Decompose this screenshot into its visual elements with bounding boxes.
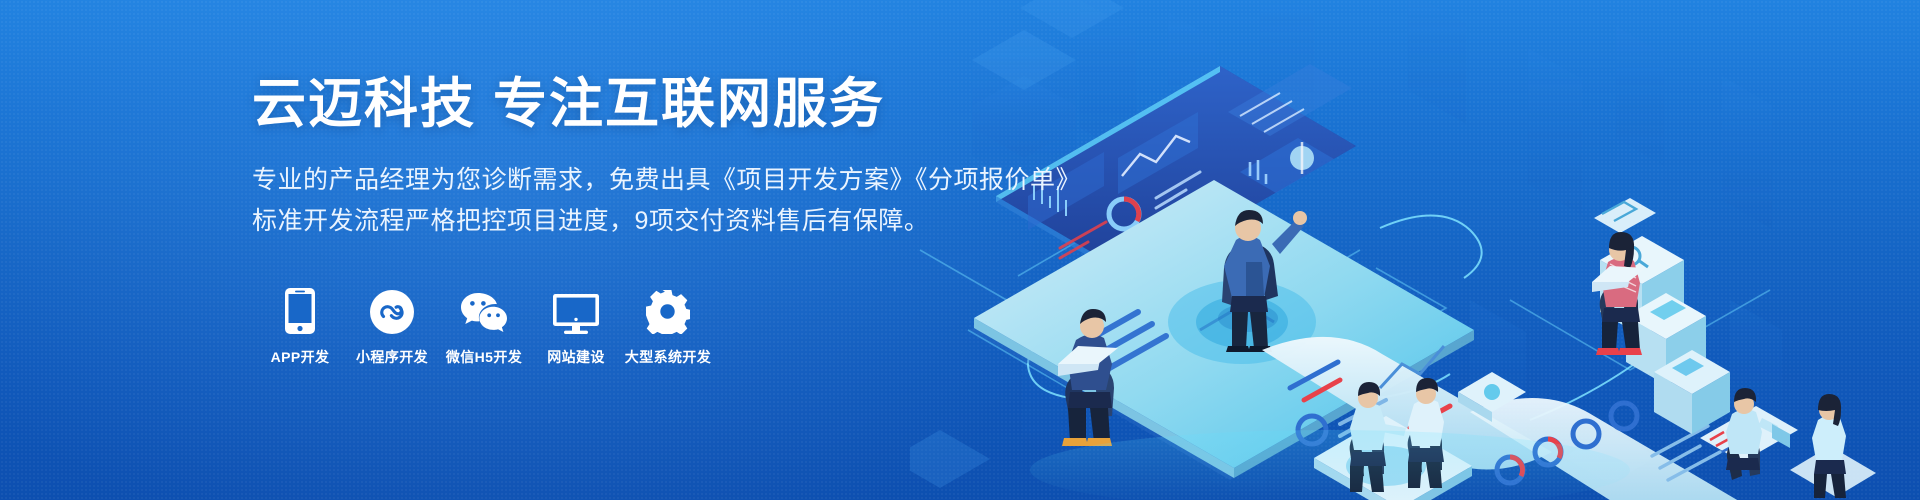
hero-banner: 云迈科技 专注互联网服务 专业的产品经理为您诊断需求，免费出具《项目开发方案》《… xyxy=(0,0,1920,500)
service-item-mini-program[interactable]: 小程序开发 xyxy=(346,288,438,367)
subtitle-line-2: 标准开发流程严格把控项目进度，9项交付资料售后有保障。 xyxy=(252,201,1132,242)
service-label: 网站建设 xyxy=(547,347,605,367)
wechat-icon xyxy=(460,288,508,334)
mini-program-icon xyxy=(370,288,414,334)
service-item-wechat-h5[interactable]: 微信H5开发 xyxy=(438,288,530,367)
monitor-icon xyxy=(553,288,599,334)
subtitle-line-1: 专业的产品经理为您诊断需求，免费出具《项目开发方案》《分项报价单》 xyxy=(252,160,1132,201)
service-label: 小程序开发 xyxy=(356,347,428,367)
gear-icon xyxy=(646,288,690,334)
service-item-website[interactable]: 网站建设 xyxy=(530,288,622,367)
service-label: 微信H5开发 xyxy=(446,347,522,367)
service-item-app[interactable]: APP开发 xyxy=(254,288,346,367)
page-title: 云迈科技 专注互联网服务 xyxy=(252,74,1132,134)
service-label: 大型系统开发 xyxy=(625,347,711,367)
mobile-phone-icon xyxy=(285,288,315,334)
service-list: APP开发 小程序开发 xyxy=(254,288,714,367)
service-item-large-system[interactable]: 大型系统开发 xyxy=(622,288,714,367)
service-label: APP开发 xyxy=(271,347,330,367)
standing-person-right xyxy=(1790,394,1876,498)
copy-block: 云迈科技 专注互联网服务 专业的产品经理为您诊断需求，免费出具《项目开发方案》《… xyxy=(252,74,1132,241)
